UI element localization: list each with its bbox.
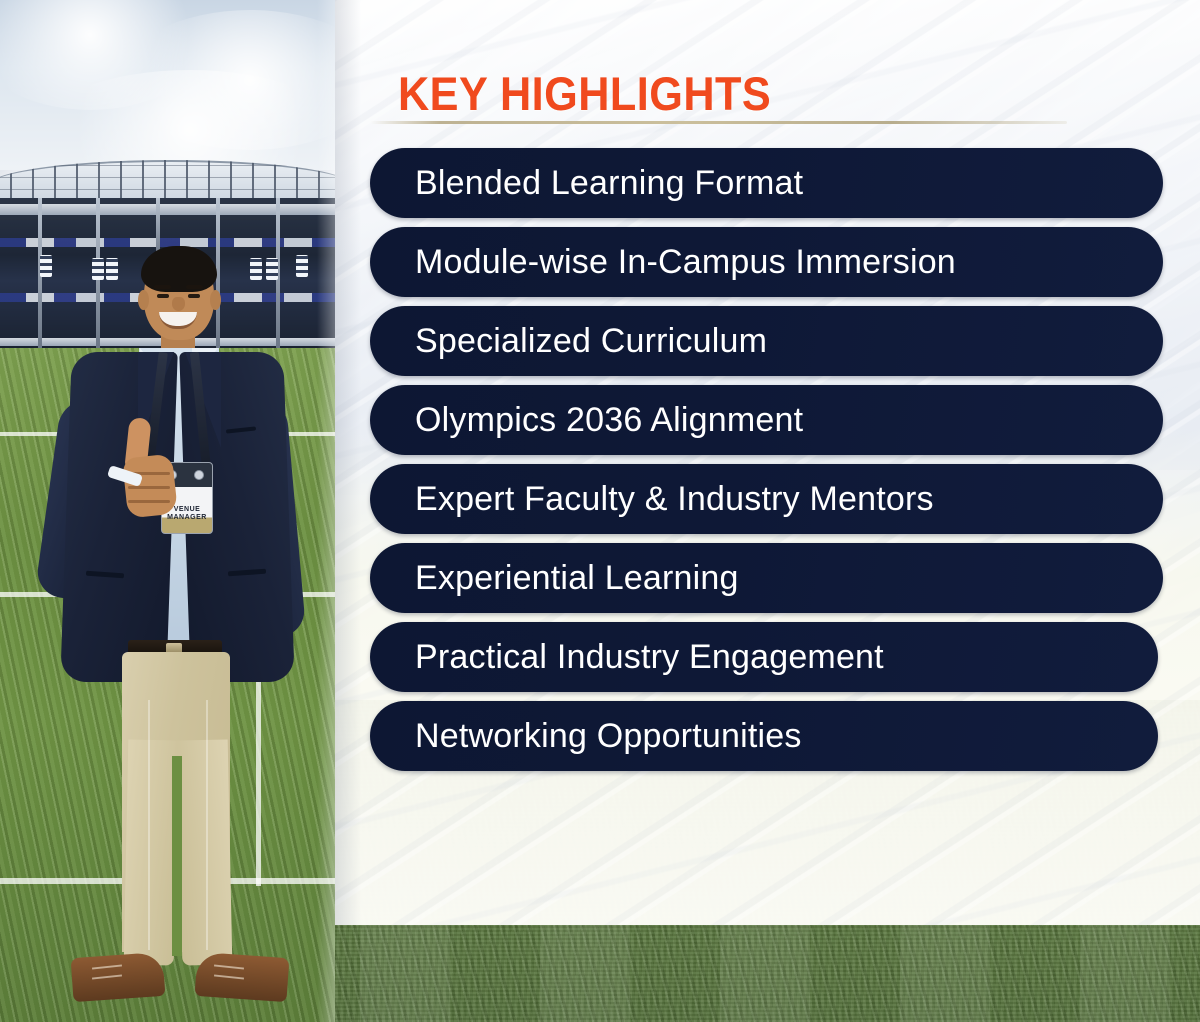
highlights-list: Blended Learning FormatModule-wise In-Ca… <box>0 0 865 925</box>
highlight-pill-label: Practical Industry Engagement <box>370 638 884 677</box>
highlight-pill-label: Blended Learning Format <box>370 164 803 203</box>
highlight-pill[interactable]: Practical Industry Engagement <box>370 622 1158 692</box>
highlight-pill-label: Networking Opportunities <box>370 717 802 756</box>
highlight-pill[interactable]: Module-wise In-Campus Immersion <box>370 227 1163 297</box>
highlight-pill[interactable]: Blended Learning Format <box>370 148 1163 218</box>
highlight-pill[interactable]: Expert Faculty & Industry Mentors <box>370 464 1163 534</box>
highlight-pill[interactable]: Olympics 2036 Alignment <box>370 385 1163 455</box>
shoe-left <box>71 952 166 1002</box>
highlight-pill-label: Specialized Curriculum <box>370 322 767 361</box>
poster-canvas: VENUE MANAGER <box>0 0 1200 1022</box>
highlight-pill-label: Expert Faculty & Industry Mentors <box>370 480 934 519</box>
highlight-pill-label: Experiential Learning <box>370 559 739 598</box>
highlight-pill-label: Olympics 2036 Alignment <box>370 401 803 440</box>
highlight-pill[interactable]: Experiential Learning <box>370 543 1163 613</box>
highlight-pill[interactable]: Networking Opportunities <box>370 701 1158 771</box>
highlight-pill-label: Module-wise In-Campus Immersion <box>370 243 956 282</box>
highlight-pill[interactable]: Specialized Curriculum <box>370 306 1163 376</box>
